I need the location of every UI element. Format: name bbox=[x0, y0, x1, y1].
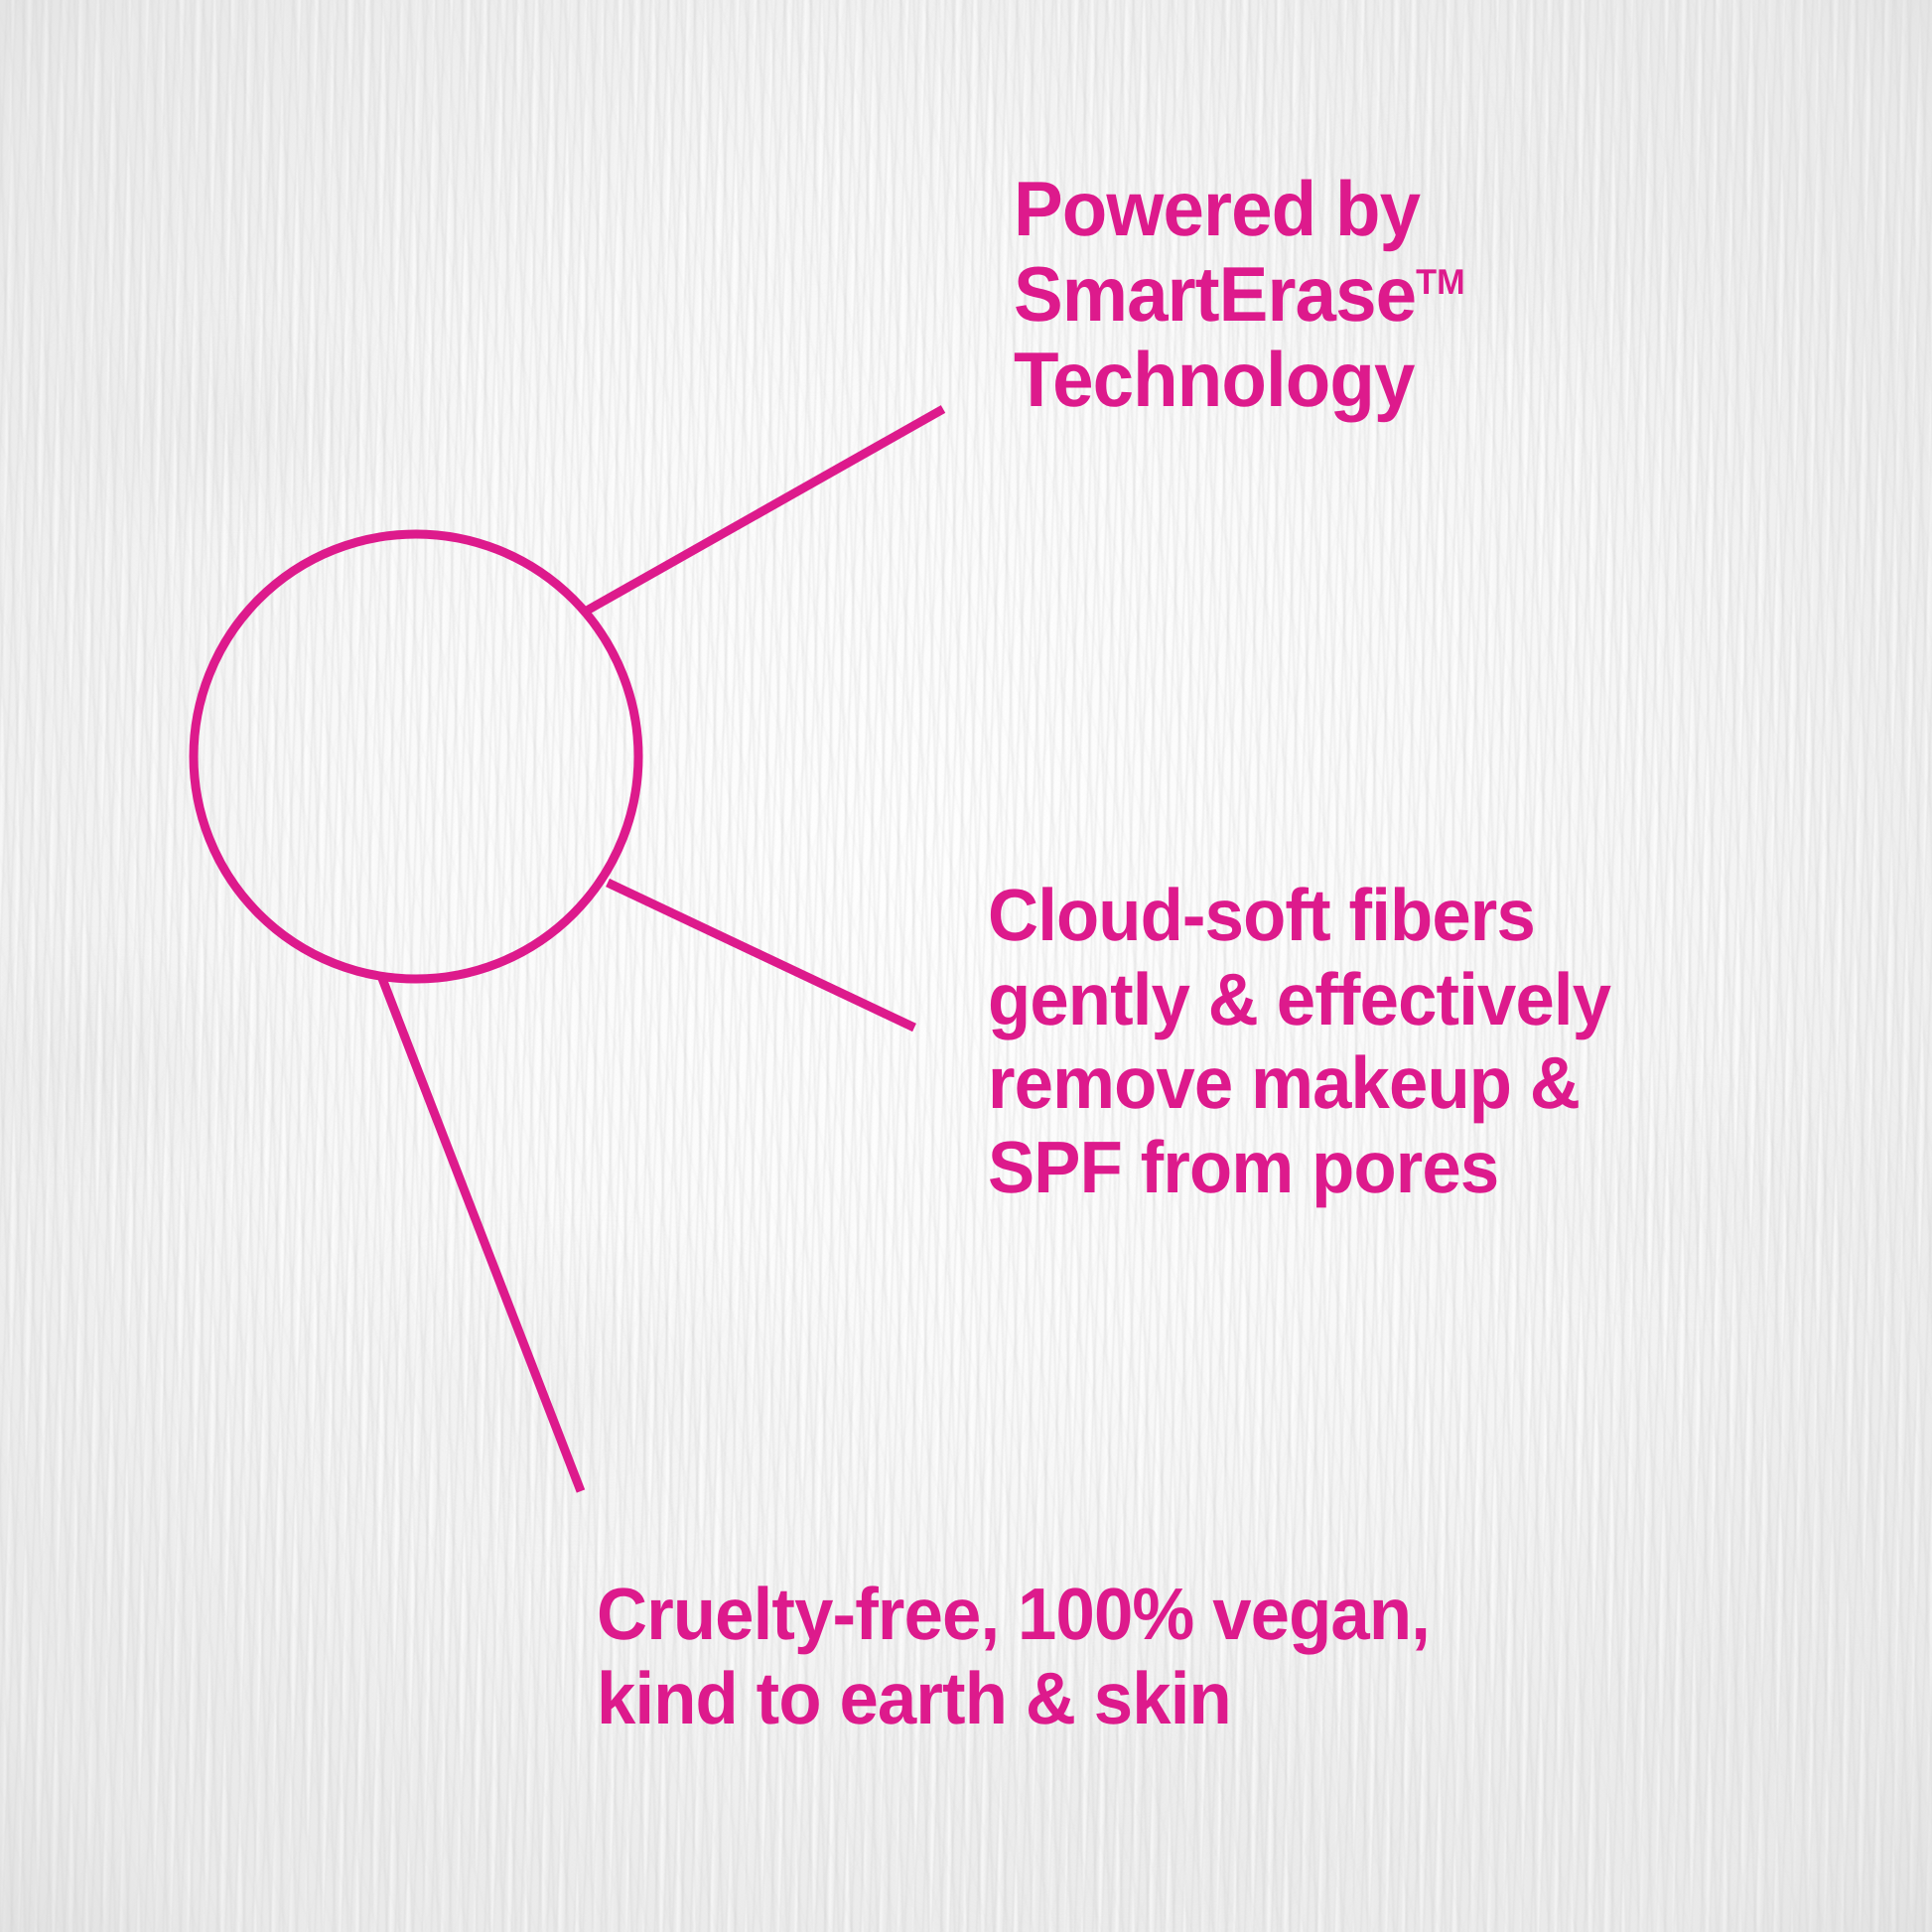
callout-cloud-soft-fibers: Cloud-soft fibers gently & effectively r… bbox=[988, 874, 1610, 1210]
callout-technology-line1: Powered by bbox=[1014, 165, 1420, 252]
leader-line-fibers bbox=[608, 883, 914, 1028]
trademark-symbol: TM bbox=[1416, 262, 1464, 302]
leader-line-vegan bbox=[381, 976, 581, 1491]
magnifier-circle-outline bbox=[194, 534, 638, 979]
callout-technology-line2: SmartErase bbox=[1014, 250, 1416, 338]
leader-lines-group bbox=[381, 409, 943, 1491]
callout-powered-by-smarterase-technology: Powered bySmartEraseTMTechnology bbox=[1014, 167, 1465, 422]
callout-technology-line3: Technology bbox=[1014, 336, 1415, 423]
product-infographic-canvas: Powered bySmartEraseTMTechnology Cloud-s… bbox=[0, 0, 1932, 1932]
callout-cruelty-free-vegan: Cruelty-free, 100% vegan, kind to earth … bbox=[597, 1573, 1430, 1740]
leader-line-technology bbox=[587, 409, 943, 611]
